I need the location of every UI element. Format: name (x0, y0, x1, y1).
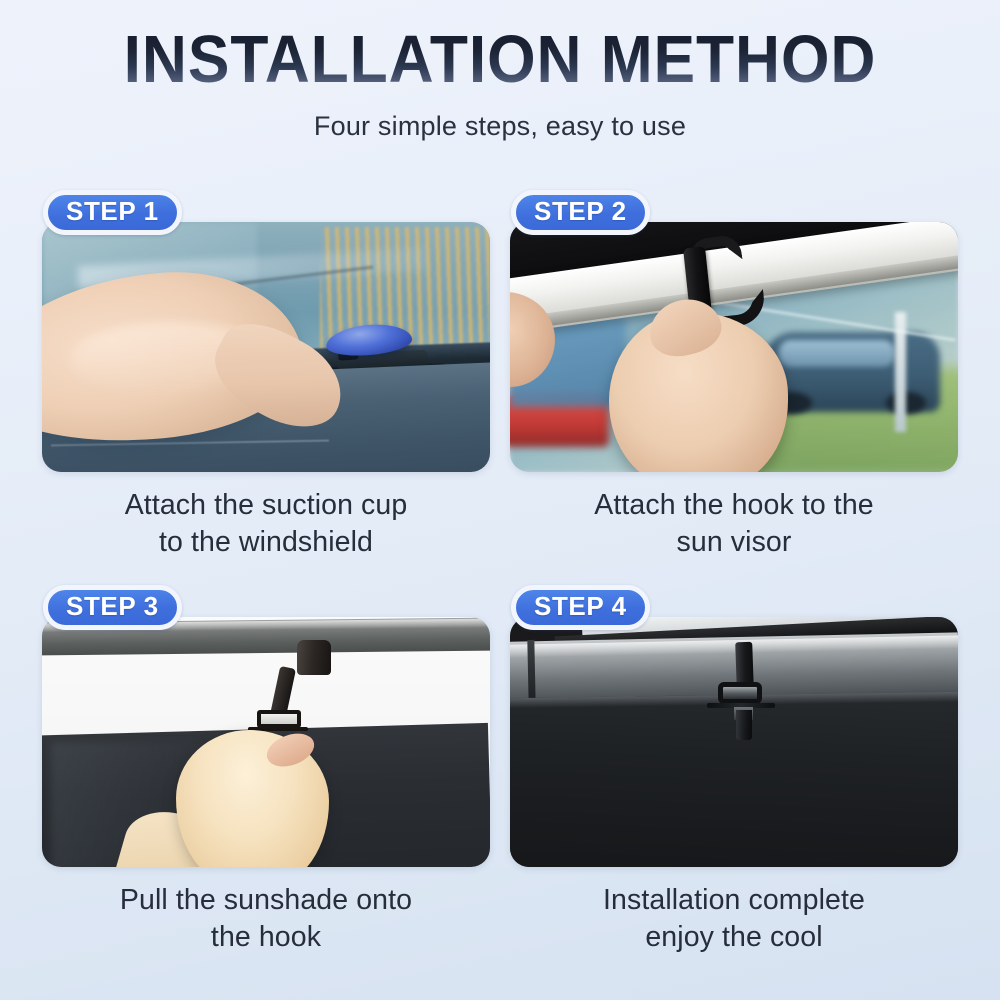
step-badge-2[interactable]: STEP 2 (511, 190, 650, 235)
step-badge-4[interactable]: STEP 4 (511, 585, 650, 630)
step-caption-1-line2: to the windshield (42, 524, 490, 561)
step-3-photo-image (42, 617, 490, 867)
hook-strap-lower (736, 710, 752, 740)
step-caption-3: Pull the sunshade onto the hook (42, 882, 490, 956)
step-caption-2: Attach the hook to the sun visor (510, 487, 958, 561)
step-card-3[interactable]: STEP 3 Pull the sunshade onto the hook (42, 585, 490, 956)
step-1-photo (42, 222, 490, 472)
step-caption-3-line2: the hook (42, 919, 490, 956)
step-caption-1-line1: Attach the suction cup (42, 487, 490, 524)
step-card-1[interactable]: STEP 1 Attach the suction cup to the win… (42, 190, 490, 561)
step-caption-1: Attach the suction cup to the windshield (42, 487, 490, 561)
sunshade-buckle (718, 682, 762, 704)
step-4-photo-image (510, 617, 958, 867)
step-caption-4-line1: Installation complete (510, 882, 958, 919)
step-badge-3[interactable]: STEP 3 (43, 585, 182, 630)
step-card-2[interactable]: STEP 2 Attach the hook to the sun visor (510, 190, 958, 561)
parked-car-window (779, 340, 895, 368)
step-badge-1[interactable]: STEP 1 (43, 190, 182, 235)
step-caption-4: Installation complete enjoy the cool (510, 882, 958, 956)
step-2-photo (510, 222, 958, 472)
step-3-photo (42, 617, 490, 867)
page-subtitle: Four simple steps, easy to use (0, 111, 1000, 142)
step-caption-2-line1: Attach the hook to the (510, 487, 958, 524)
page-header: INSTALLATION METHOD Four simple steps, e… (0, 0, 1000, 142)
hook-clip-on-rail (297, 640, 331, 675)
step-caption-2-line2: sun visor (510, 524, 958, 561)
step-1-photo-image (42, 222, 490, 472)
steps-grid: STEP 1 Attach the suction cup to the win… (42, 190, 958, 956)
sunshade-buckle (257, 710, 301, 728)
page-title: INSTALLATION METHOD (35, 26, 965, 94)
step-caption-4-line2: enjoy the cool (510, 919, 958, 956)
step-2-photo-image (510, 222, 958, 472)
step-caption-3-line1: Pull the sunshade onto (42, 882, 490, 919)
step-card-4[interactable]: STEP 4 Installation complete enjoy the c… (510, 585, 958, 956)
door-pillar (527, 640, 535, 705)
step-4-photo (510, 617, 958, 867)
